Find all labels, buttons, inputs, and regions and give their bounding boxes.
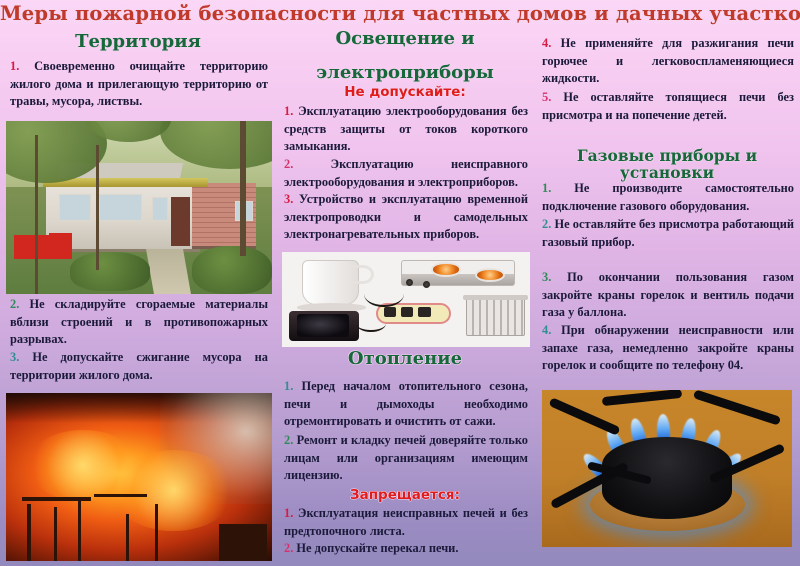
heading-gas-appliances: Газовые приборы и установки (534, 147, 800, 182)
heating-item-1: 1. Перед началом отопительного сезона, п… (284, 378, 528, 431)
heating-forbidden-2: 2. Не допускайте перекал печи. (284, 540, 528, 558)
heading-lighting-line2: электроприборы (276, 63, 534, 83)
territory-item-1-text: Своевременно очищайте территорию жилого … (10, 59, 268, 108)
photo-house-window-3 (152, 197, 168, 221)
photo-fire-glow-2 (112, 450, 234, 531)
photo-tree-trunk-3 (240, 121, 246, 256)
lighting-item-1: 1. Эксплуатацию электрооборудования без … (284, 103, 528, 156)
photo-hotplate-burner-1 (431, 262, 461, 276)
photo-burning-house (6, 393, 272, 561)
photo-kettle (302, 260, 359, 306)
photo-fire-beam-7 (155, 504, 158, 561)
photo-fire-beam-5 (94, 494, 147, 497)
heating-item-1-text: Перед началом отопительного сезона, печи… (284, 379, 528, 428)
photo-fire-beam-4 (78, 501, 81, 561)
subheading-do-not-allow: Не допускайте: (276, 85, 534, 100)
gas-item-4-number: 4. (542, 323, 551, 337)
lighting-item-2-text: Эксплуатацию неисправного электрооборудо… (284, 157, 528, 189)
photo-house-door (171, 197, 190, 245)
gas-item-1-number: 1. (542, 181, 551, 195)
photo-bush-2 (192, 246, 272, 294)
territory-item-2-number: 2. (10, 297, 19, 311)
page-title: Меры пожарной безопасности для частных д… (0, 2, 800, 25)
lighting-item-3: 3. Устройство и эксплуатацию временной э… (284, 191, 528, 244)
lighting-item-3-text: Устройство и эксплуатацию временной элек… (284, 192, 528, 241)
heating-forbidden-1: 1. Эксплуатация неисправных печей и без … (284, 505, 528, 540)
territory-item-3-text: Не допускайте сжигание мусора на террито… (10, 350, 268, 382)
heating-item-2-text: Ремонт и кладку печей доверяйте только л… (284, 433, 528, 482)
photo-plug-2 (401, 307, 413, 317)
lighting-item-1-text: Эксплуатацию электрооборудования без сре… (284, 104, 528, 153)
photo-plug-3 (418, 307, 430, 317)
gas-item-3: 3. По окончании пользования газом закрой… (542, 269, 794, 322)
photo-house-window-1 (59, 194, 91, 222)
photo-cord-2 (356, 315, 386, 332)
territory-item-2: 2. Не складируйте сгораемые материалы вб… (10, 296, 268, 349)
territory-item-2-text: Не складируйте сгораемые материалы вблиз… (10, 297, 268, 346)
photo-bush-1 (70, 252, 150, 290)
photo-red-chair-2 (49, 233, 73, 259)
photo-garden-path (146, 249, 191, 294)
heating-item-5-number: 5. (542, 90, 551, 104)
photo-red-chair-1 (14, 235, 49, 259)
heating-item-5: 5. Не оставляйте топящиеся печи без прис… (542, 89, 794, 124)
gas-item-1-text: Не производите самостоятельно подключени… (542, 181, 794, 213)
heating-forbidden-1-text: Эксплуатация неисправных печей и без пре… (284, 506, 528, 538)
photo-gas-burner (542, 390, 792, 547)
photo-oil-radiator (466, 298, 526, 336)
lighting-item-2-number: 2. (284, 157, 293, 171)
gas-item-4-text: При обнаружении неисправности или запахе… (542, 323, 794, 372)
heating-item-1-number: 1. (284, 379, 293, 393)
fire-safety-poster: Меры пожарной безопасности для частных д… (0, 0, 800, 566)
lighting-item-2: 2. Эксплуатацию неисправного электрообор… (284, 156, 528, 191)
gas-item-2: 2. Не оставляйте без присмотра работающи… (542, 216, 794, 251)
photo-fire-beam-6 (126, 514, 129, 561)
gas-item-4: 4. При обнаружении неисправности или зап… (542, 322, 794, 375)
photo-plug-1 (384, 307, 396, 317)
photo-electrical-appliances (282, 252, 530, 347)
heating-item-2: 2. Ремонт и кладку печей доверяйте тольк… (284, 432, 528, 485)
gas-item-3-text: По окончании пользования газом закройте … (542, 270, 794, 319)
territory-item-1-number: 1. (10, 59, 19, 73)
territory-item-3: 3. Не допускайте сжигание мусора на терр… (10, 349, 268, 384)
photo-tree-trunk-2 (96, 145, 99, 270)
photo-house-window-2 (99, 194, 142, 222)
heating-item-4: 4. Не применяйте для разжигания печи гор… (542, 35, 794, 88)
heating-item-4-number: 4. (542, 36, 551, 50)
photo-tree-trunk-1 (35, 135, 38, 294)
photo-fire-beam-8 (219, 524, 267, 561)
territory-item-3-number: 3. (10, 350, 19, 364)
photo-dacha-house (6, 121, 272, 294)
photo-grate-3 (693, 390, 781, 425)
heating-forbidden-2-number: 2. (284, 541, 293, 555)
heading-heating: Отопление (276, 349, 534, 369)
gas-item-1: 1. Не производите самостоятельно подключ… (542, 180, 794, 215)
photo-hotplate-knob-2 (423, 281, 430, 288)
heading-territory: Территория (0, 32, 276, 52)
heating-forbidden-1-number: 1. (284, 506, 293, 520)
lighting-item-1-number: 1. (284, 104, 293, 118)
photo-fire-beam-2 (27, 504, 31, 561)
heating-item-2-number: 2. (284, 433, 293, 447)
lighting-item-3-number: 3. (284, 192, 293, 206)
gas-item-3-number: 3. (542, 270, 551, 284)
photo-radiator-top (463, 295, 527, 300)
heading-lighting-line1: Освещение и (276, 29, 534, 49)
subheading-forbidden: Запрещается: (276, 488, 534, 503)
photo-cord-1 (364, 281, 404, 308)
photo-tv-screen (297, 314, 349, 337)
gas-item-2-text: Не оставляйте без присмотра работающий г… (542, 217, 794, 249)
gas-item-2-number: 2. (542, 217, 551, 231)
heating-item-4-text: Не применяйте для разжигания печи горюче… (542, 36, 794, 85)
heating-forbidden-2-text: Не допускайте перекал печи. (296, 541, 458, 555)
photo-kettle-handle (351, 265, 373, 284)
photo-hotplate-knob-1 (406, 279, 413, 286)
photo-grate-2 (602, 390, 683, 406)
heating-item-5-text: Не оставляйте топящиеся печи без присмот… (542, 90, 794, 122)
territory-item-1: 1. Своевременно очищайте территорию жило… (10, 58, 268, 111)
photo-fire-beam-3 (54, 507, 57, 561)
